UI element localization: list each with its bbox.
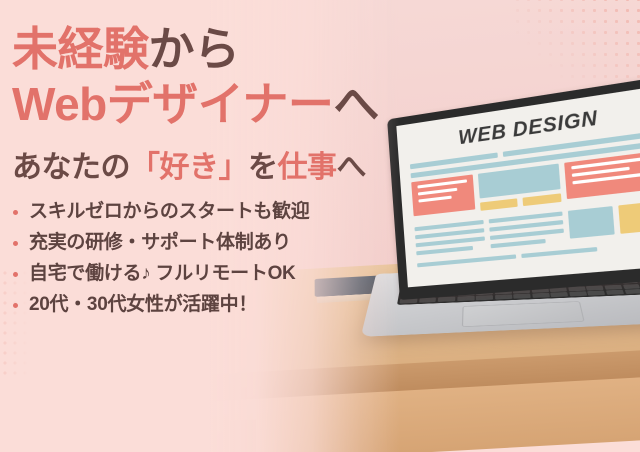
mockup-block-sand xyxy=(480,198,518,210)
keyboard-key xyxy=(606,290,624,295)
mockup-block-blue xyxy=(568,206,614,239)
desk-leg xyxy=(230,420,256,452)
mockup-block-coral xyxy=(564,151,640,199)
mockup-center-col xyxy=(478,164,562,215)
mockup-block-blue xyxy=(478,164,561,199)
headline-line-2-suffix: へ xyxy=(333,78,379,130)
keyboard-key xyxy=(622,284,640,289)
keyboard-key xyxy=(513,294,530,299)
subheadline: あなたの「好き」を仕事へ xyxy=(12,142,432,186)
subheadline-emphasis-suki: 「好き」 xyxy=(130,151,248,184)
keyboard-key xyxy=(569,291,587,296)
keyboard-key xyxy=(438,297,456,302)
recruitment-banner: WEB DESIGN xyxy=(0,0,640,452)
mockup-block-sand xyxy=(523,193,562,206)
list-item: 充実の研修・サポート体制あり xyxy=(12,233,432,252)
keyboard-key xyxy=(532,293,550,298)
keyboard-key xyxy=(495,294,512,299)
headline-line-1: 未経験から xyxy=(12,26,432,73)
keyboard-key xyxy=(604,285,622,290)
subheadline-part-5: へ xyxy=(337,151,367,184)
keyboard-key xyxy=(586,286,604,291)
laptop-trackpad xyxy=(462,301,585,327)
headline-line-1-emphasis: 未経験 xyxy=(12,23,149,75)
headline-line-2: Webデザイナーへ xyxy=(12,81,432,128)
keyboard-key xyxy=(457,296,474,301)
subheadline-part-1: あなたの xyxy=(12,151,130,184)
keyboard-key xyxy=(476,295,493,300)
list-item: 20代・30代女性が活躍中！ xyxy=(12,295,432,314)
mockup-text-col xyxy=(489,211,565,252)
keyboard-key xyxy=(551,292,569,297)
mockup-block-sand xyxy=(618,201,640,234)
keyboard-key xyxy=(588,291,606,296)
mockup-bar xyxy=(491,239,546,248)
website-mockup: WEB DESIGN xyxy=(396,85,640,288)
headline-line-1-suffix: から xyxy=(149,23,240,75)
mockup-bar xyxy=(521,247,597,258)
mockup-tile-col xyxy=(568,201,640,239)
list-item: スキルゼロからのスタートも歓迎 xyxy=(12,202,432,221)
copy-block: 未経験から Webデザイナーへ あなたの「好き」を仕事へ スキルゼロからのスター… xyxy=(12,0,432,326)
subheadline-part-3: を xyxy=(248,151,278,184)
headline-line-2-emphasis: Webデザイナー xyxy=(12,78,333,130)
mockup-white-line xyxy=(572,156,640,169)
keyboard-key xyxy=(624,289,640,294)
benefits-list: スキルゼロからのスタートも歓迎 充実の研修・サポート体制あり 自宅で働ける♪ フ… xyxy=(12,202,432,314)
subheadline-emphasis-shigoto: 仕事 xyxy=(278,151,337,184)
laptop-screen: WEB DESIGN xyxy=(396,85,640,288)
list-item: 自宅で働ける♪ フルリモートOK xyxy=(12,264,432,283)
